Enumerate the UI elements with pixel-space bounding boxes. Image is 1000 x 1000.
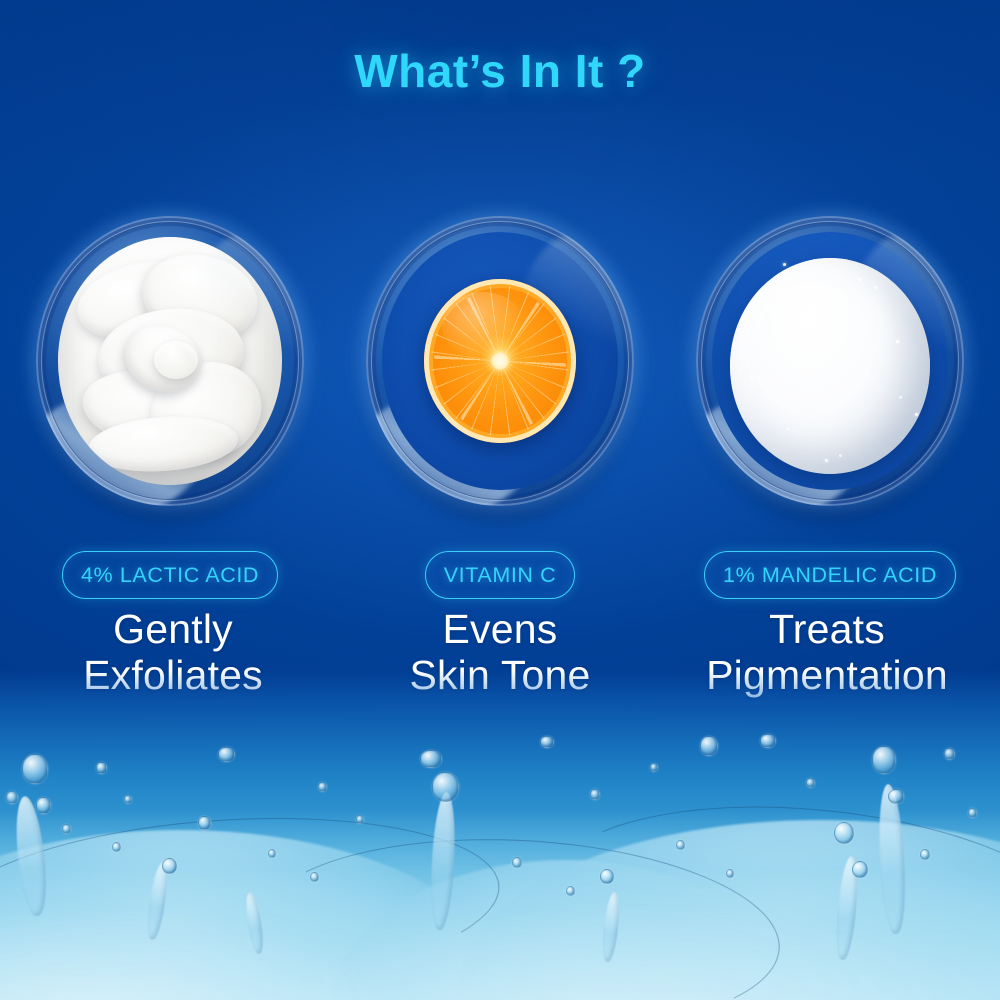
water-droplet-icon [872,746,896,774]
water-droplet-icon [760,734,776,748]
water-droplet-icon [590,789,600,800]
pill-cell-1: 4% LACTIC ACID [22,551,318,599]
water-droplet-icon [888,789,904,804]
glass-rim [371,221,629,501]
water-droplet-icon [676,840,685,850]
pill-cell-2: VITAMIN C [352,551,648,599]
water-droplet-icon [36,797,51,814]
ingredient-dish-row: white cosmetic cream swirl in clear glas… [0,196,1000,526]
ingredient-pill-mandelic-acid[interactable]: 1% MANDELIC ACID [704,551,956,599]
water-droplet-icon [920,849,930,860]
water-droplet-icon [566,886,575,896]
product-ingredient-infographic: What’s In It ? [0,0,1000,1000]
ingredient-column-vitamin-c: halved orange slice in clear glass dish [352,196,648,526]
water-droplet-icon [112,842,121,852]
water-droplet-icon [700,736,718,756]
water-droplet-icon [432,772,459,802]
cream-swirl-petri-dish-icon: white cosmetic cream swirl in clear glas… [30,211,310,511]
water-droplet-icon [806,778,815,788]
ingredient-pill-row: 4% LACTIC ACID VITAMIN C 1% MANDELIC ACI… [0,551,1000,599]
glass-rim [41,221,299,501]
water-droplet-icon [420,750,442,768]
orange-slice-petri-dish-icon: halved orange slice in clear glass dish [360,211,640,511]
water-droplet-icon [6,791,18,804]
water-droplet-icon [944,748,955,760]
water-droplet-icon [356,815,364,824]
ingredient-pill-lactic-acid[interactable]: 4% LACTIC ACID [62,551,278,599]
water-droplet-icon [268,849,276,858]
benefit-line-1: Treats [668,606,986,652]
water-droplet-icon [318,782,327,792]
water-droplet-icon [62,824,71,834]
water-droplet-icon [834,822,854,844]
water-droplet-icon [600,869,614,884]
page-title-container: What’s In It ? [0,44,1000,98]
benefit-line-1: Evens [341,606,659,652]
water-droplet-icon [512,857,522,868]
water-droplet-icon [650,763,658,772]
pill-cell-3: 1% MANDELIC ACID [682,551,978,599]
water-droplet-icon [218,747,235,762]
water-droplet-icon [852,861,868,878]
page-title: What’s In It ? [354,45,646,97]
ingredient-column-lactic-acid: white cosmetic cream swirl in clear glas… [22,196,318,526]
water-droplet-icon [96,762,107,774]
water-splash-graphic [0,670,1000,1000]
water-droplet-icon [198,816,211,830]
water-droplet-icon [162,858,177,874]
water-droplet-icon [540,736,554,748]
ingredient-pill-vitamin-c[interactable]: VITAMIN C [425,551,576,599]
glass-rim [701,221,959,501]
ingredient-column-mandelic-acid: white crystalline powder in clear glass … [682,196,978,526]
white-powder-petri-dish-icon: white crystalline powder in clear glass … [690,211,970,511]
water-droplet-icon [310,872,319,882]
water-droplet-icon [968,808,977,818]
benefit-line-1: Gently [14,606,332,652]
water-droplet-icon [22,754,48,784]
water-droplet-icon [726,869,734,878]
water-droplet-icon [124,795,132,804]
